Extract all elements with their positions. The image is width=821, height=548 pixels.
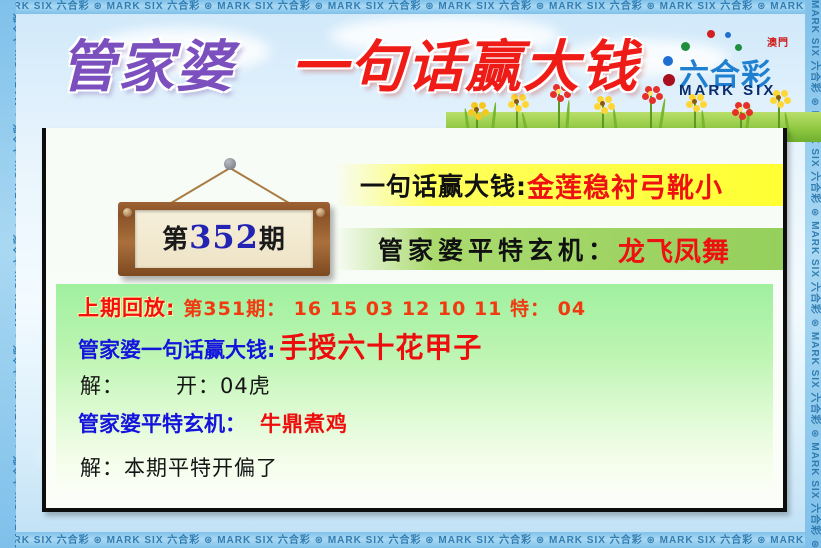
period-plaque: 第352期 <box>106 158 346 278</box>
page-title-brand: 管家婆 <box>60 22 234 114</box>
title-row: 管家婆 一句话赢大钱 <box>36 22 676 114</box>
watermark-text: MARK SIX 六合彩 ⊛ MARK SIX 六合彩 ⊛ MARK SIX 六… <box>0 534 821 547</box>
poster-header: 管家婆 一句话赢大钱 澳門 六合彩 MARK SIX <box>16 14 805 124</box>
watermark-text: MARK SIX 六合彩 ⊛ MARK SIX 六合彩 ⊛ MARK SIX 六… <box>0 0 821 13</box>
period-suffix: 期 <box>259 225 286 255</box>
plaque-hook-icon <box>224 158 236 170</box>
logo-dot-icon <box>663 56 673 66</box>
banner-xuanji: 管家婆平特玄机： 龙飞凤舞 <box>334 228 783 270</box>
banner-phrase-label: 一句话赢大钱: <box>360 167 527 203</box>
replay-value: 第351期： 16 15 03 12 10 11 特： 04 <box>183 294 586 321</box>
poster-root: MARK SIX 六合彩 ⊛ MARK SIX 六合彩 ⊛ MARK SIX 六… <box>0 0 821 548</box>
plaque-screw-icon <box>316 208 325 217</box>
period-number: 352 <box>189 218 259 256</box>
jie-text-2: 本期平特开偏了 <box>124 456 278 480</box>
jie-row-2: 解：本期平特开偏了 <box>80 452 278 482</box>
period-text: 第352期 <box>135 218 313 256</box>
plaque-parchment: 第352期 <box>135 210 313 268</box>
xuanji-row: 管家婆平特玄机： 牛鼎煮鸡 <box>78 408 348 438</box>
banner-phrase: 一句话赢大钱: 金莲稳衬弓靴小 <box>334 164 783 206</box>
xuanji-label: 管家婆平特玄机： <box>78 408 246 438</box>
banner-xuanji-label: 管家婆平特玄机： <box>378 231 618 267</box>
page-title-slogan: 一句话赢大钱 <box>291 22 639 114</box>
banner-xuanji-answer: 龙飞凤舞 <box>618 230 730 269</box>
logo-dot-icon <box>663 74 675 86</box>
jie-row-1: 解：开：04虎 <box>80 370 271 400</box>
replay-row: 上期回放: 第351期： 16 15 03 12 10 11 特： 04 <box>78 292 586 322</box>
logo-dot-icon <box>725 32 731 38</box>
logo-name-en: MARK SIX <box>679 82 776 99</box>
xuanji-answer: 牛鼎煮鸡 <box>260 408 348 438</box>
plaque-screw-icon <box>123 208 132 217</box>
phrase-answer: 手授六十花甲子 <box>279 326 482 366</box>
replay-label: 上期回放: <box>78 292 175 322</box>
info-block: 上期回放: 第351期： 16 15 03 12 10 11 特： 04 管家婆… <box>56 284 773 490</box>
phrase-row: 管家婆一句话赢大钱: 手授六十花甲子 <box>78 326 482 366</box>
watermark-strip-bottom: MARK SIX 六合彩 ⊛ MARK SIX 六合彩 ⊛ MARK SIX 六… <box>0 532 821 548</box>
jie-label-2: 解： <box>80 456 124 480</box>
watermark-strip-left: MARK SIX 六合彩 ⊛ MARK SIX 六合彩 ⊛ MARK SIX 六… <box>0 0 16 548</box>
mark-six-logo: 澳門 六合彩 MARK SIX <box>661 28 791 106</box>
jie-label-1: 解： <box>80 374 124 398</box>
main-content-panel: 第352期 一句话赢大钱: 金莲稳衬弓靴小 管家婆平特玄机： 龙飞凤舞 上期回放… <box>42 128 787 512</box>
banner-phrase-answer: 金莲稳衬弓靴小 <box>527 166 723 205</box>
jie-open-value: 开：04虎 <box>176 374 271 398</box>
logo-dot-icon <box>707 30 715 38</box>
period-prefix: 第 <box>162 225 189 255</box>
plaque-board: 第352期 <box>118 202 330 276</box>
logo-region-label: 澳門 <box>767 34 789 49</box>
watermark-strip-top: MARK SIX 六合彩 ⊛ MARK SIX 六合彩 ⊛ MARK SIX 六… <box>0 0 821 14</box>
phrase-label: 管家婆一句话赢大钱: <box>78 334 275 364</box>
